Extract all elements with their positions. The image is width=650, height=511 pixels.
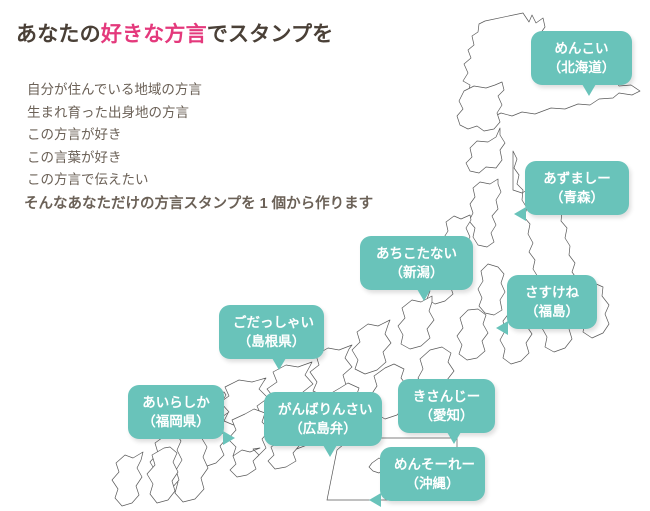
bubble-dialect: ごだっしゃい [233, 313, 310, 332]
list-item: この方言で伝えたい [27, 169, 202, 192]
bubble-region: （広島弁） [278, 419, 368, 438]
bubble-niigata[interactable]: あちこたない （新潟） [360, 236, 473, 290]
bubble-region: （福島） [521, 302, 583, 321]
bubble-okinawa[interactable]: めんそーれー （沖縄） [380, 447, 485, 501]
page-root: あなたの好きな方言でスタンプを 自分が住んでいる地域の方言 生まれ育った出身地の… [0, 0, 650, 511]
bubble-region: （北海道） [545, 58, 618, 77]
bubble-region: （愛知） [412, 406, 481, 425]
bubble-hiroshima[interactable]: がんばりんさい （広島弁） [264, 392, 382, 446]
bubble-dialect: がんばりんさい [278, 400, 368, 419]
bubble-aichi[interactable]: きさんじー （愛知） [398, 379, 495, 433]
bubble-dialect: あいらしか [142, 393, 210, 412]
bubble-region: （福岡県） [142, 412, 210, 431]
bubble-dialect: あずましー [539, 169, 615, 188]
bubble-region: （新潟） [374, 263, 459, 282]
bubble-fukushima[interactable]: さすけね （福島） [507, 275, 597, 329]
list-item: 生まれ育った出身地の方言 [27, 102, 202, 125]
list-item: 自分が住んでいる地域の方言 [27, 79, 202, 102]
title-highlight: 好きな方言 [101, 23, 207, 46]
bubble-aomori[interactable]: あずましー （青森） [525, 161, 629, 215]
title-part-after: でスタンプを [207, 23, 334, 46]
bubble-dialect: あちこたない [374, 244, 459, 263]
reason-list: 自分が住んでいる地域の方言 生まれ育った出身地の方言 この方言が好き この言葉が… [27, 79, 202, 192]
bubble-dialect: きさんじー [412, 387, 481, 406]
bubble-dialect: めんこい [545, 39, 618, 58]
title-part-before: あなたの [16, 23, 101, 46]
bubble-region: （青森） [539, 188, 615, 207]
bubble-shimane[interactable]: ごだっしゃい （島根県） [219, 305, 324, 359]
list-item: この言葉が好き [27, 147, 202, 170]
bubble-region: （島根県） [233, 332, 310, 351]
bubble-dialect: めんそーれー [394, 455, 471, 474]
bubble-fukuoka[interactable]: あいらしか （福岡県） [128, 385, 224, 439]
list-item: この方言が好き [27, 124, 202, 147]
bubble-region: （沖縄） [394, 474, 471, 493]
bubble-hokkaido[interactable]: めんこい （北海道） [531, 31, 632, 85]
bubble-dialect: さすけね [521, 283, 583, 302]
page-title: あなたの好きな方言でスタンプを [16, 18, 333, 48]
tagline: そんなあなただけの方言スタンプを 1 個から作ります [24, 192, 373, 213]
